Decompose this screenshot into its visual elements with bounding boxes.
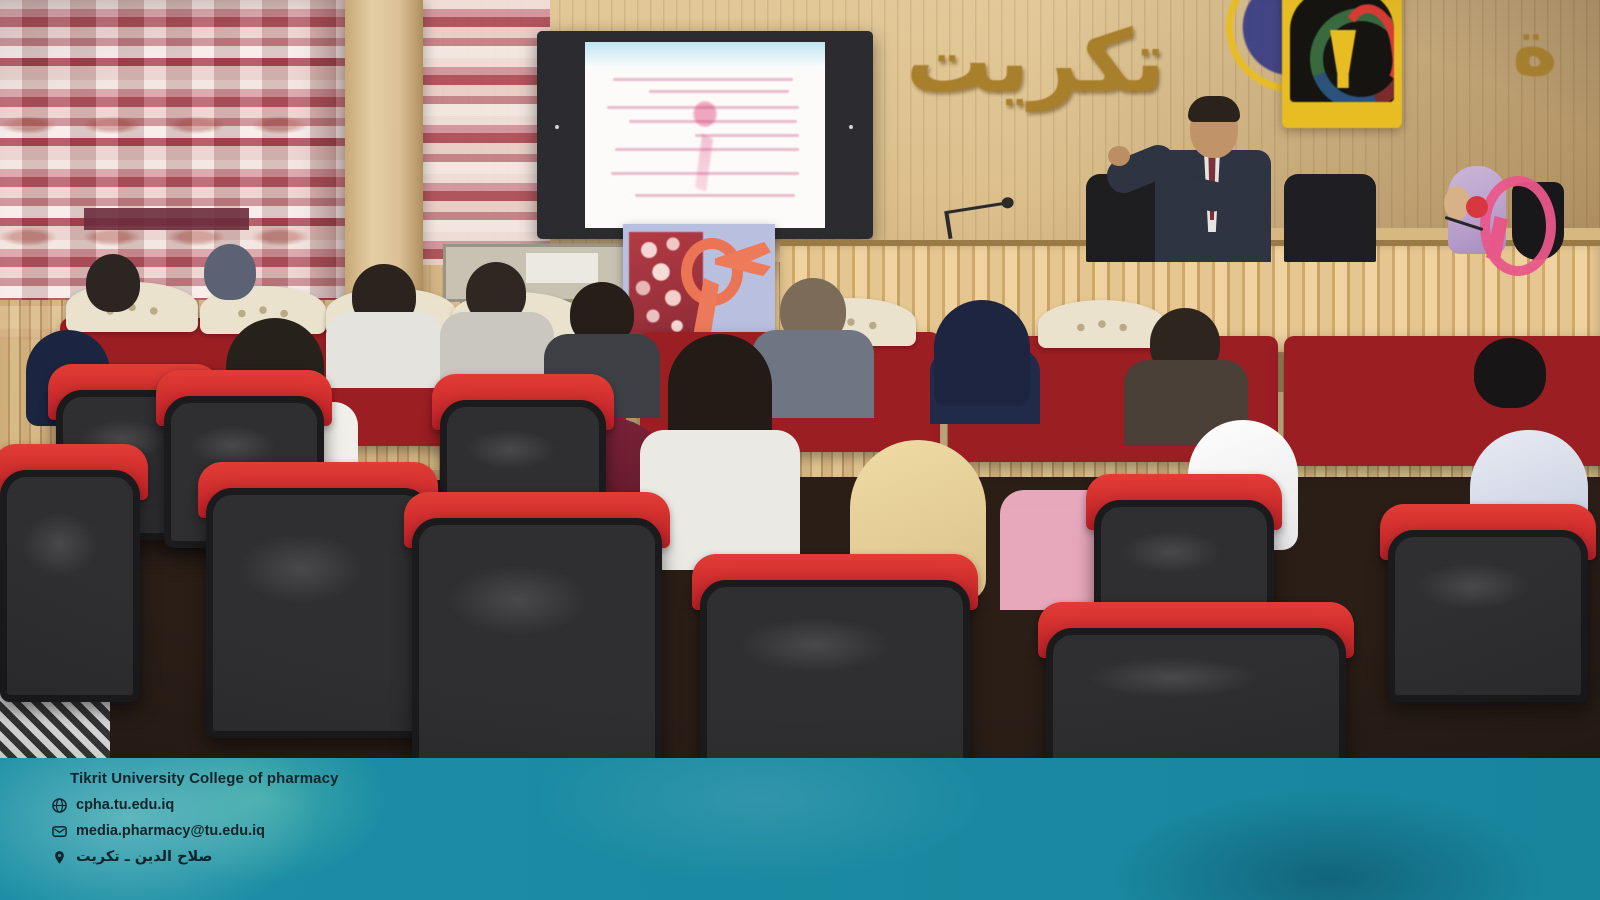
theater-seat-foreground — [700, 580, 970, 758]
theater-seat — [1388, 530, 1588, 702]
contact-website[interactable]: cpha.tu.edu.iq — [52, 797, 339, 813]
audience-person-head — [86, 254, 140, 312]
contact-email[interactable]: media.pharmacy@tu.edu.iq — [52, 823, 339, 839]
wall-arabic-text-secondary: ة — [1470, 0, 1600, 100]
website-text: cpha.tu.edu.iq — [76, 797, 174, 813]
audience-person-head — [1474, 338, 1546, 408]
presentation-display — [537, 31, 873, 239]
email-text: media.pharmacy@tu.edu.iq — [76, 823, 265, 839]
theater-seat-foreground — [0, 470, 140, 702]
sofa-crest — [1038, 300, 1166, 348]
contact-address: صلاح الدين ـ تكريت — [52, 849, 339, 865]
audience-person-torso — [326, 312, 442, 388]
globe-icon — [52, 798, 67, 813]
event-photograph: تكريت ة صيدلانية العربية — [0, 0, 1600, 758]
wall-arabic-text: تكريت — [935, 10, 1165, 120]
footer-bar: Tikrit University College of pharmacy cp… — [0, 758, 1600, 900]
location-pin-icon — [52, 850, 67, 865]
audience-hijab — [934, 300, 1030, 406]
wall-pharmacy-emblem: صيدلانية العربية — [1282, 0, 1402, 128]
theater-seat-foreground — [206, 488, 430, 738]
college-name: Tikrit University College of pharmacy — [70, 770, 339, 787]
emblem-caption: صيدلانية العربية — [1292, 116, 1392, 124]
envelope-icon — [52, 824, 67, 839]
contact-block: Tikrit University College of pharmacy cp… — [52, 770, 339, 865]
pink-ribbon-poster — [623, 224, 775, 344]
audience-person-torso — [440, 312, 554, 382]
theater-seat-foreground — [1046, 628, 1346, 758]
presentation-slide — [585, 42, 825, 228]
audience-person-head — [204, 244, 256, 300]
address-text: صلاح الدين ـ تكريت — [76, 849, 213, 865]
theater-seat-foreground — [412, 518, 662, 758]
dais-chair-right — [1284, 174, 1376, 262]
poster-image: تكريت ة صيدلانية العربية — [0, 0, 1600, 900]
display-stand — [84, 208, 249, 230]
